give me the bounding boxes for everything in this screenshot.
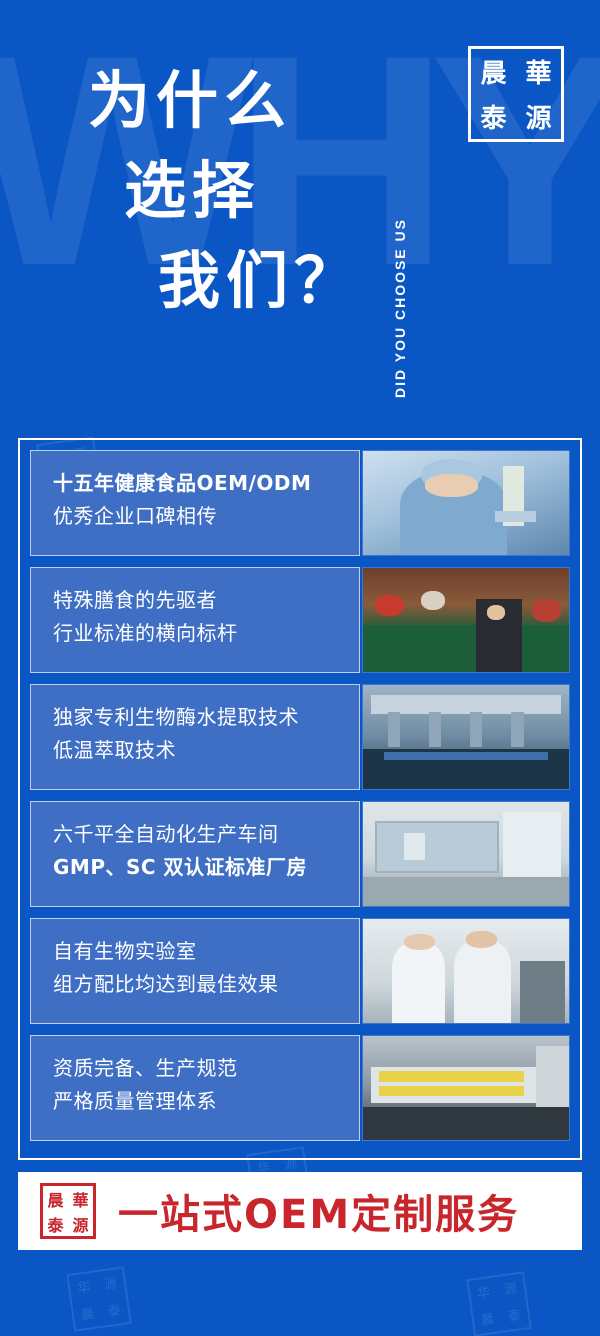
feature-text-block: 资质完备、生产规范 严格质量管理体系 (30, 1035, 360, 1141)
page-title: 为什么 选择 我们？ (88, 56, 388, 326)
feature-row: 资质完备、生产规范 严格质量管理体系 (30, 1035, 570, 1141)
feature-text-block: 特殊膳食的先驱者 行业标准的横向标杆 (30, 567, 360, 673)
feature-line: 特殊膳食的先驱者 (53, 584, 359, 617)
logo-char: 泰 (471, 94, 516, 139)
feature-line: 组方配比均达到最佳效果 (53, 968, 359, 1001)
feature-row: 自有生物实验室 组方配比均达到最佳效果 (30, 918, 570, 1024)
poster-root: WHY 华 源 晨 泰 华 源 晨 泰 华 源 晨 泰 华 源 晨 泰 为什么 … (0, 0, 600, 1336)
header: 为什么 选择 我们？ DID YOU CHOOSE US 晨 華 泰 源 (0, 0, 600, 430)
footer-brand-seal: 晨 華 泰 源 (40, 1183, 96, 1239)
feature-line: 优秀企业口碑相传 (53, 500, 359, 533)
vertical-english-subtitle: DID YOU CHOOSE US (392, 48, 418, 398)
photo-cleanroom-corridor (362, 801, 570, 907)
photo-filling-machine (362, 684, 570, 790)
title-line-3: 我们？ (88, 236, 388, 326)
footer-seal-char: 泰 (43, 1211, 68, 1236)
feature-row: 独家专利生物酶水提取技术 低温萃取技术 (30, 684, 570, 790)
footer-seal-char: 晨 (43, 1186, 68, 1211)
logo-char: 源 (516, 94, 561, 139)
feature-text-block: 十五年健康食品OEM/ODM 优秀企业口碑相传 (30, 450, 360, 556)
title-line-1: 为什么 (88, 56, 388, 146)
watermark-seal: 华 源 晨 泰 (466, 1271, 532, 1336)
feature-line: GMP、SC 双认证标准厂房 (53, 851, 359, 884)
logo-char: 晨 (471, 49, 516, 94)
feature-line: 自有生物实验室 (53, 935, 359, 968)
features-list: 十五年健康食品OEM/ODM 优秀企业口碑相传 特殊膳食的先驱者 行业标准的横向… (30, 450, 570, 1141)
feature-text-block: 自有生物实验室 组方配比均达到最佳效果 (30, 918, 360, 1024)
photo-blister-packing-line (362, 1035, 570, 1141)
watermark-char: 晨 (480, 1312, 495, 1327)
watermark-char: 泰 (507, 1308, 522, 1323)
watermark-char: 华 (476, 1285, 491, 1300)
logo-char: 華 (516, 49, 561, 94)
footer-slogan: 一站式OEM定制服务 (118, 1182, 519, 1240)
watermark-char: 源 (103, 1276, 118, 1291)
watermark-char: 晨 (80, 1307, 95, 1322)
feature-line: 独家专利生物酶水提取技术 (53, 701, 359, 734)
watermark-seal: 华 源 晨 泰 (66, 1266, 132, 1332)
feature-line: 低温萃取技术 (53, 734, 359, 767)
feature-line: 六千平全自动化生产车间 (53, 818, 359, 851)
feature-row: 六千平全自动化生产车间 GMP、SC 双认证标准厂房 (30, 801, 570, 907)
footer-seal-char: 華 (68, 1186, 93, 1211)
feature-row: 特殊膳食的先驱者 行业标准的横向标杆 (30, 567, 570, 673)
photo-lab-technician-vial (362, 450, 570, 556)
title-line-2: 选择 (88, 146, 388, 236)
photo-lab-researchers (362, 918, 570, 1024)
feature-row: 十五年健康食品OEM/ODM 优秀企业口碑相传 (30, 450, 570, 556)
feature-line: 严格质量管理体系 (53, 1085, 359, 1118)
brand-logo-seal: 晨 華 泰 源 (468, 46, 564, 142)
feature-text-block: 独家专利生物酶水提取技术 低温萃取技术 (30, 684, 360, 790)
photo-conference-audience (362, 567, 570, 673)
watermark-char: 华 (76, 1280, 91, 1295)
watermark-char: 源 (503, 1281, 518, 1296)
feature-line: 行业标准的横向标杆 (53, 617, 359, 650)
watermark-char: 泰 (107, 1303, 122, 1318)
footer-banner: 晨 華 泰 源 一站式OEM定制服务 (18, 1172, 582, 1250)
footer-seal-char: 源 (68, 1211, 93, 1236)
feature-text-block: 六千平全自动化生产车间 GMP、SC 双认证标准厂房 (30, 801, 360, 907)
feature-line: 十五年健康食品OEM/ODM (53, 467, 359, 500)
feature-line: 资质完备、生产规范 (53, 1052, 359, 1085)
